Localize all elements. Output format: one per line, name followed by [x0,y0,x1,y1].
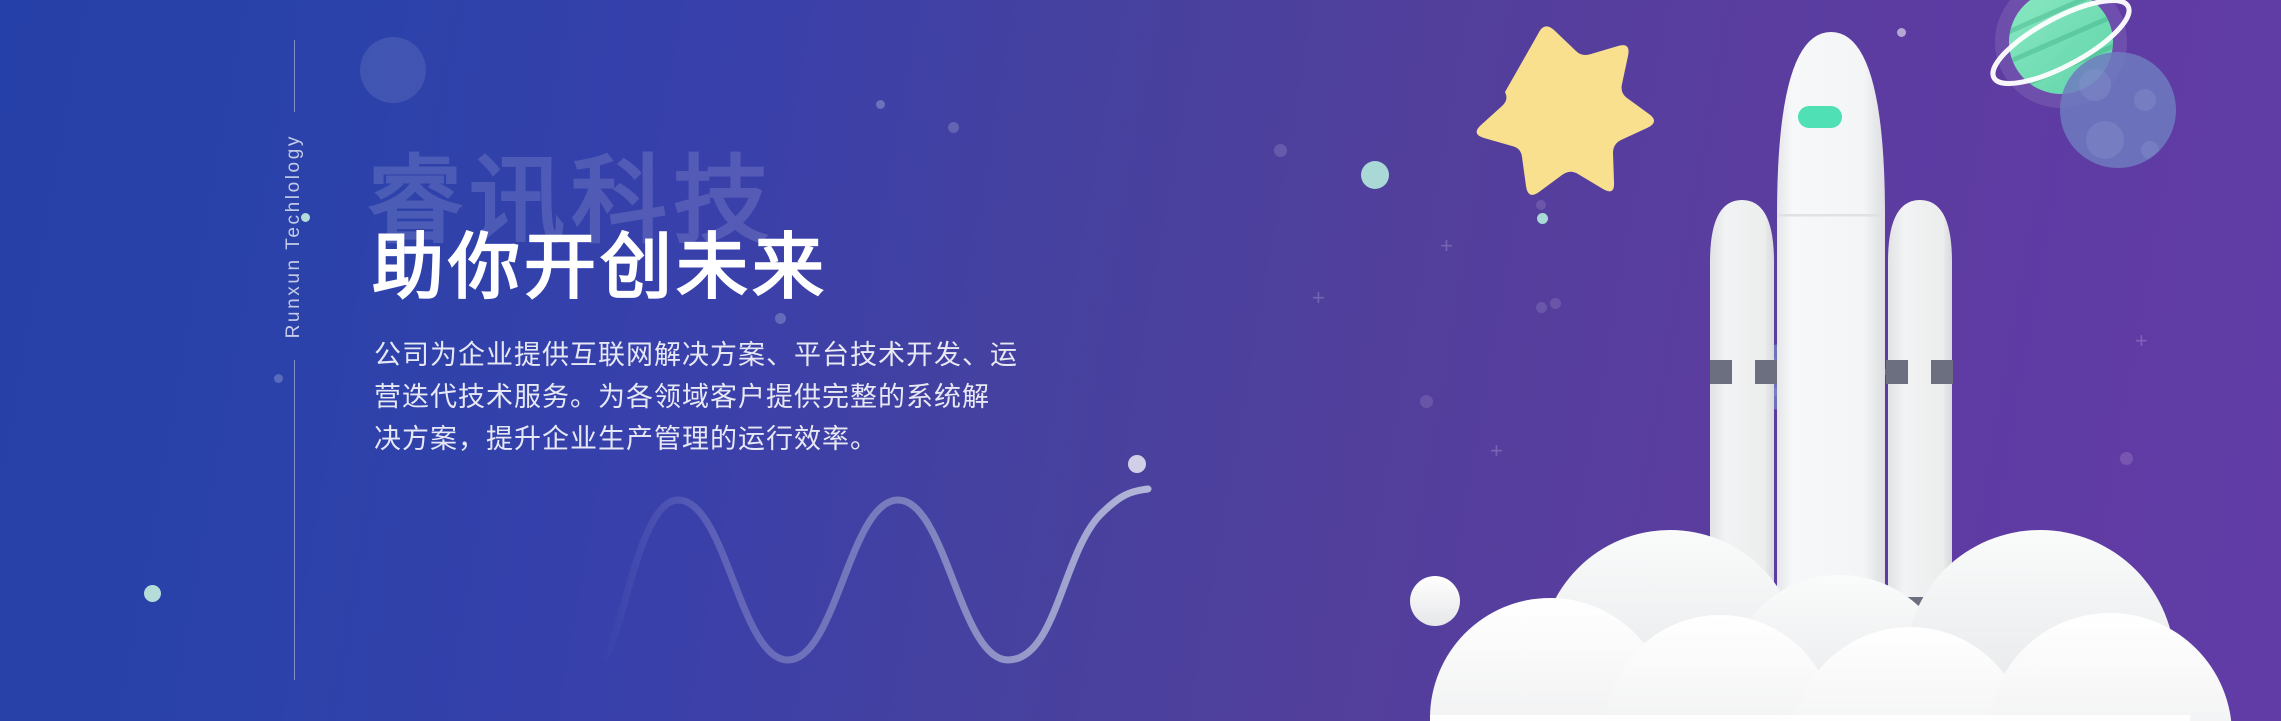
decor-circle-large [360,37,426,103]
page-title: 助你开创未来 [372,208,828,313]
vertical-rule-top [294,40,295,112]
cloud-puff-small [1410,576,1460,626]
decor-dot-muted-8 [775,313,786,324]
brand-vertical-text: Runxun Techlology [283,112,305,360]
hero-banner: + + + + Runxun Techlology 睿讯科技 助你开创未来 公司… [0,0,2281,721]
moon-planet [2060,52,2176,168]
body-line-1: 公司为企业提供互联网解决方案、平台技术开发、运 [374,334,994,376]
sine-wave-graphic [600,455,1290,685]
body-line-2: 营迭代技术服务。为各领域客户提供完整的系统解 [374,376,994,418]
space-illustration [1250,0,2281,721]
decor-dot-muted-10 [948,122,959,133]
rocket-window [1798,106,1842,128]
decor-dot-mint-1 [144,585,161,602]
decor-dot-muted-6 [876,100,885,109]
body-copy: 公司为企业提供互联网解决方案、平台技术开发、运 营迭代技术服务。为各领域客户提供… [374,334,994,460]
rocket-seam [1777,214,1885,217]
vertical-rule-bottom [294,360,295,680]
yellow-star [1477,26,1654,195]
vertical-brand-label: Runxun Techlology [274,40,314,680]
rocket-body [1777,32,1885,600]
body-line-3: 决方案，提升企业生产管理的运行效率。 [374,418,994,460]
